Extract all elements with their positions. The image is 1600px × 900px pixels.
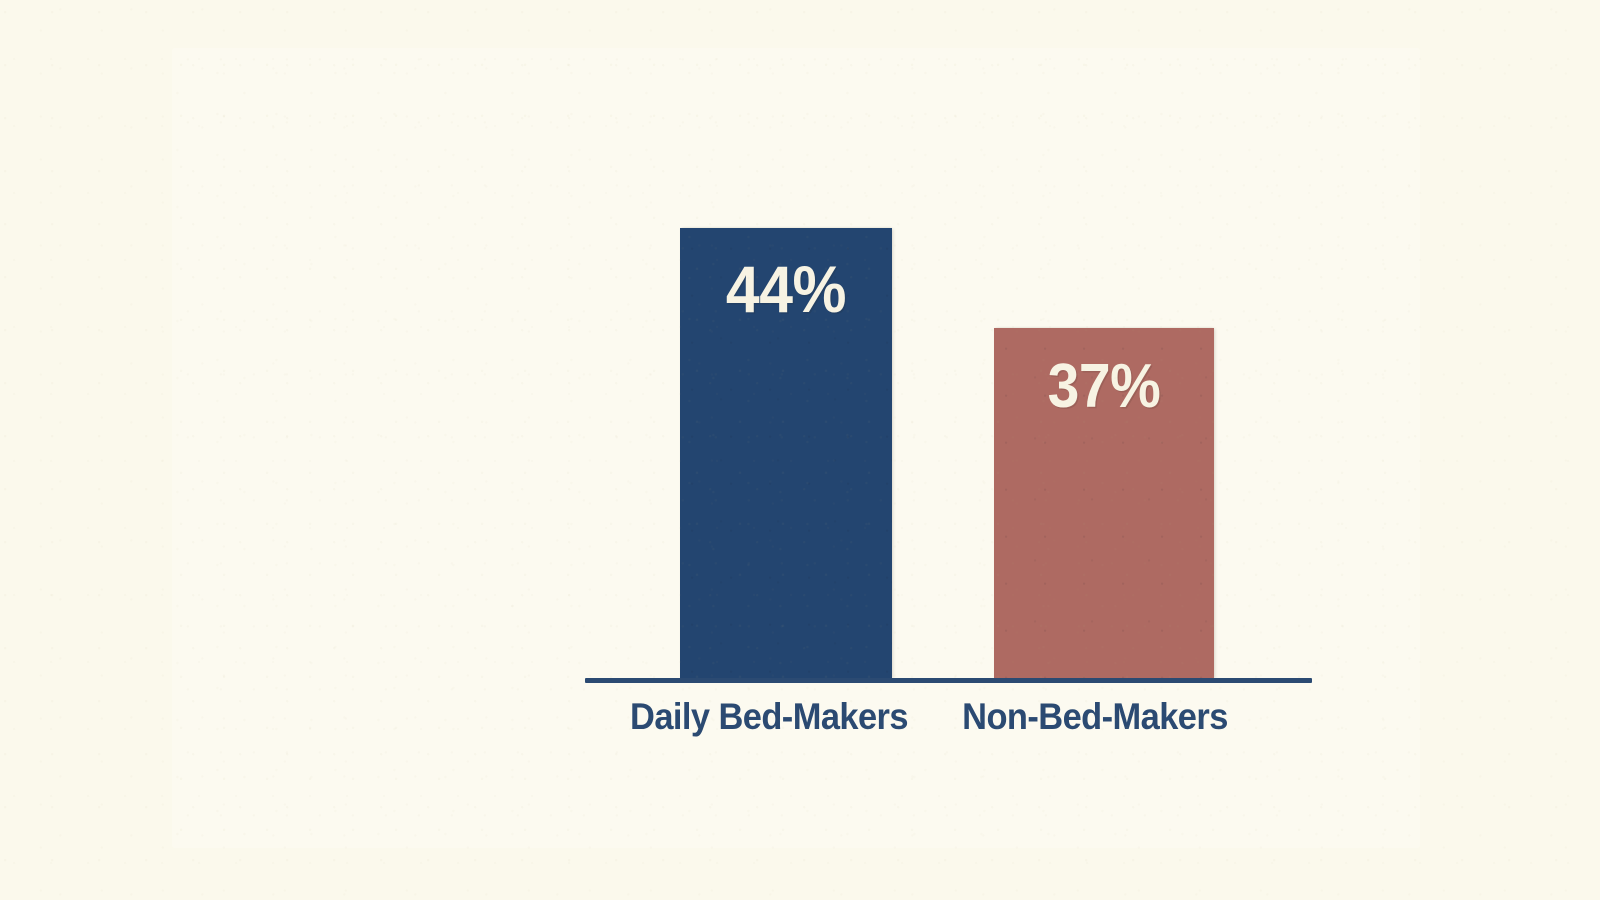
bar-value-label-non-bed-makers: 37% xyxy=(1003,356,1205,418)
x-axis-baseline xyxy=(585,678,1312,683)
plot-area: 44% 37% Daily Bed-Makers Non-Bed-Makers xyxy=(172,48,1420,848)
category-label-non-bed-makers: Non-Bed-Makers xyxy=(943,696,1246,737)
chart-panel: 44% 37% Daily Bed-Makers Non-Bed-Makers xyxy=(172,48,1420,848)
bar-value-label-daily-bed-makers: 44% xyxy=(688,256,883,322)
category-label-daily-bed-makers: Daily Bed-Makers xyxy=(617,696,920,737)
bar-daily-bed-makers[interactable]: 44% xyxy=(680,228,892,680)
chart-canvas: 44% 37% Daily Bed-Makers Non-Bed-Makers xyxy=(0,0,1600,900)
bar-non-bed-makers[interactable]: 37% xyxy=(994,328,1214,680)
